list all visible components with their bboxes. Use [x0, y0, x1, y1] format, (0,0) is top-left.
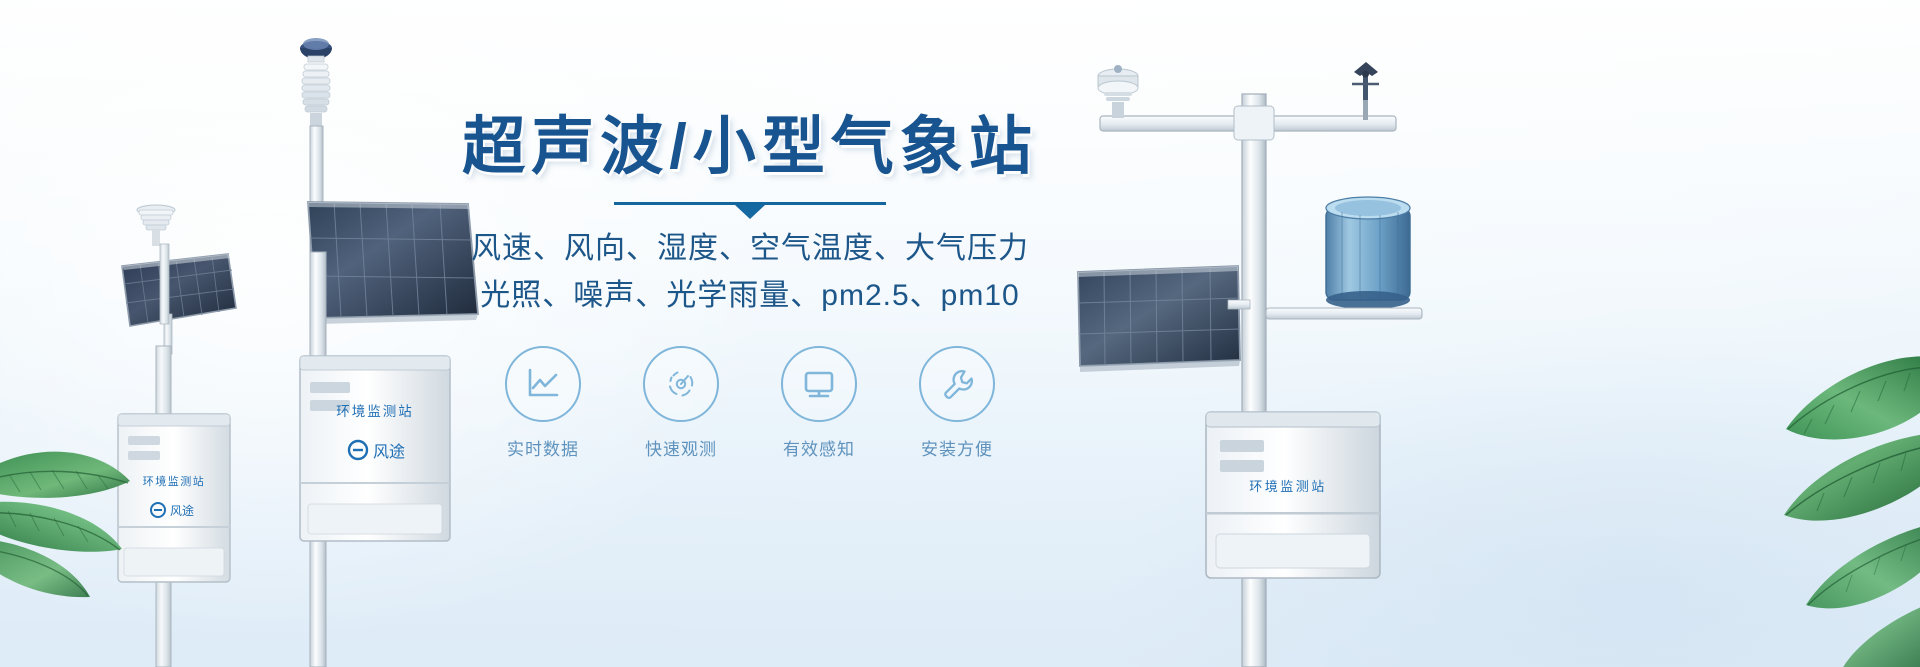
banner-text-block: 超声波/小型气象站 风速、风向、湿度、空气温度、大气压力 光照、噪声、光学雨量、…	[430, 110, 1070, 550]
radar-scan-icon	[661, 364, 701, 404]
ultrasonic-wind-sensor-icon	[300, 38, 332, 62]
title-divider	[614, 198, 886, 212]
feature-item-fast-observation[interactable]: 快速观测	[636, 346, 726, 460]
gauge-shelf	[1266, 308, 1422, 319]
feature-label: 快速观测	[636, 435, 726, 460]
brand-label: 风途	[373, 443, 405, 461]
page-title: 超声波/小型气象站	[430, 110, 1070, 184]
feature-item-effective-sensing[interactable]: 有效感知	[774, 346, 864, 460]
leaf-decoration-right	[1600, 337, 1920, 667]
feature-icon-circle	[919, 346, 995, 422]
leaf-shape	[0, 452, 130, 498]
cross-arm	[1100, 106, 1396, 140]
wrench-icon	[937, 364, 977, 404]
cabinet-label: 环境监测站	[336, 404, 414, 419]
rain-gauge-icon	[1326, 197, 1410, 309]
feature-label: 实时数据	[498, 435, 588, 460]
leaf-shape	[1786, 356, 1920, 439]
line-chart-icon	[523, 364, 563, 404]
feature-icon-circle	[505, 346, 581, 422]
solar-panel	[1078, 266, 1240, 372]
wind-vane-icon	[1352, 62, 1379, 120]
feature-item-easy-installation[interactable]: 安装方便	[912, 346, 1002, 460]
leaf-shape	[0, 502, 122, 552]
subtitle-line-2: 光照、噪声、光学雨量、pm2.5、pm10	[430, 273, 1070, 318]
station-right-large: 环境监测站	[1060, 60, 1480, 667]
monitor-icon	[799, 364, 839, 404]
equipment-cabinet	[1206, 412, 1380, 578]
feature-icon-circle	[781, 346, 857, 422]
product-banner: 环境监测站 风途	[0, 0, 1920, 667]
chevron-down-icon	[735, 205, 765, 219]
cabinet-label: 环境监测站	[1249, 479, 1327, 494]
leaf-decoration-left	[0, 407, 230, 607]
feature-item-realtime-data[interactable]: 实时数据	[498, 346, 588, 460]
subtitle-line-1: 风速、风向、湿度、空气温度、大气压力	[430, 226, 1070, 271]
radiation-shield-icon	[137, 205, 175, 246]
feature-icon-circle	[643, 346, 719, 422]
ultrasonic-weather-sensor-icon	[1098, 65, 1138, 118]
leaf-shape	[1842, 601, 1920, 667]
feature-label: 安装方便	[912, 435, 1002, 460]
leaf-shape	[1784, 433, 1920, 521]
solar-panel	[122, 254, 236, 326]
feature-list: 实时数据 快速观测	[430, 346, 1070, 460]
leaf-shape	[1806, 523, 1920, 608]
feature-label: 有效感知	[774, 435, 864, 460]
radiation-shield-icon	[302, 64, 330, 127]
